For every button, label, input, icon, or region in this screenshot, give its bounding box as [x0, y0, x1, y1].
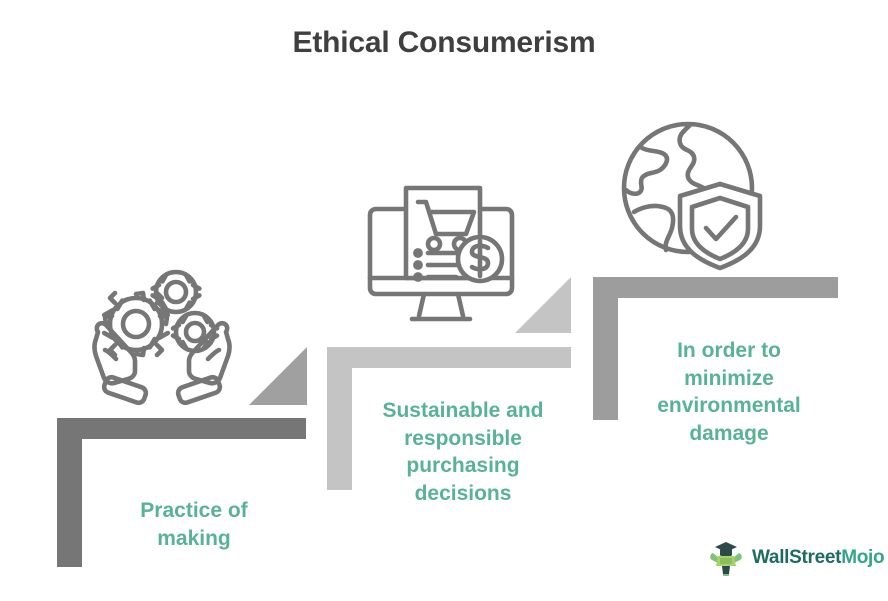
step-3-caption-line-3: environmental: [618, 392, 840, 420]
step-2-bracket-side: [327, 347, 352, 490]
step-3-caption-line-1: In order to: [618, 337, 840, 365]
step-3-caption: In order to minimize environmental damag…: [618, 337, 840, 448]
online-shopping-monitor-icon: [362, 176, 520, 334]
wallstreetmojo-logo[interactable]: WallStreetMojo: [707, 539, 884, 577]
step-3-caption-line-4: damage: [618, 420, 840, 448]
step-1-caption-line-1: Practice of: [83, 497, 305, 525]
connector-triangle-1: [249, 347, 307, 405]
graduation-bull-icon: [707, 539, 745, 577]
logo-wordmark: WallStreetMojo: [752, 547, 884, 569]
logo-wordmark-primary: WallStreet: [752, 547, 841, 568]
step-2-caption-line-4: decisions: [352, 480, 574, 508]
hands-holding-gears-icon: [86, 262, 238, 414]
step-2-caption: Sustainable and responsible purchasing d…: [352, 397, 574, 508]
step-1-bracket-side: [57, 418, 82, 567]
step-3-caption-line-2: minimize: [618, 365, 840, 393]
step-2-caption-line-1: Sustainable and: [352, 397, 574, 425]
logo-wordmark-secondary: Mojo: [841, 547, 884, 568]
page-title: Ethical Consumerism: [0, 26, 888, 60]
step-2-caption-line-3: purchasing: [352, 452, 574, 480]
step-1-caption: Practice of making: [83, 497, 305, 552]
step-1-bracket-top: [57, 418, 306, 439]
connector-triangle-2: [515, 277, 571, 333]
step-1-caption-line-2: making: [83, 525, 305, 553]
globe-shield-check-icon: [612, 112, 778, 278]
step-3-bracket-top: [593, 277, 838, 298]
step-3-bracket-side: [593, 277, 618, 420]
infographic-canvas: Ethical Consumerism: [0, 0, 888, 601]
step-2-caption-line-2: responsible: [352, 425, 574, 453]
step-2-bracket-top: [327, 347, 571, 368]
